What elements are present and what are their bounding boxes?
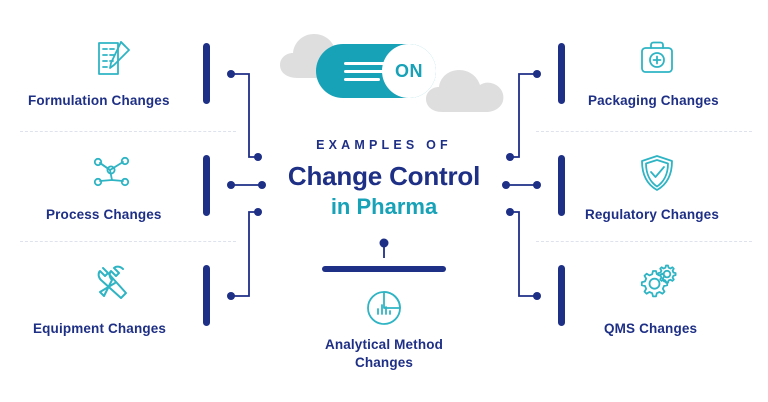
divider-right-upper (536, 131, 752, 132)
accent-bar-right-2 (558, 155, 565, 216)
gears-icon (634, 260, 680, 306)
item-label-packaging-changes: Packaging Changes (588, 93, 719, 108)
toggle-state-label: ON (395, 61, 423, 82)
wrench-screwdriver-icon (90, 260, 136, 306)
toggle-knob[interactable]: ON (382, 44, 436, 98)
infographic-canvas: ON EXAMPLES OF Change Control in Pharma (0, 0, 768, 402)
toggle-switch[interactable]: ON (316, 44, 436, 98)
cloud-right-decoration (424, 66, 510, 118)
title-subtitle: in Pharma (238, 194, 530, 220)
item-label-process-changes: Process Changes (46, 207, 162, 222)
item-label-formulation-changes: Formulation Changes (28, 93, 170, 108)
accent-bar-left-1 (203, 43, 210, 104)
first-aid-kit-icon (634, 36, 680, 82)
divider-left-lower (20, 241, 236, 242)
divider-left-upper (20, 131, 236, 132)
item-label-qms-changes: QMS Changes (604, 321, 697, 336)
accent-bar-right-1 (558, 43, 565, 104)
accent-bar-right-3 (558, 265, 565, 326)
pie-bar-chart-icon (361, 285, 407, 331)
title-main: Change Control (238, 161, 530, 192)
accent-bar-left-2 (203, 155, 210, 216)
accent-bar-left-3 (203, 265, 210, 326)
item-label-analytical-method-changes: Analytical Method Changes (294, 336, 474, 372)
toggle-line-3 (344, 78, 380, 81)
network-nodes-icon (90, 150, 136, 196)
title-block: EXAMPLES OF Change Control in Pharma (238, 138, 530, 220)
document-pencil-icon (90, 36, 136, 82)
item-label-equipment-changes: Equipment Changes (33, 321, 166, 336)
title-eyebrow: EXAMPLES OF (238, 138, 530, 152)
center-divider-bar (322, 266, 446, 272)
shield-check-icon (634, 150, 680, 196)
divider-right-lower (536, 241, 752, 242)
toggle-line-1 (344, 62, 388, 65)
item-label-regulatory-changes: Regulatory Changes (585, 207, 719, 222)
